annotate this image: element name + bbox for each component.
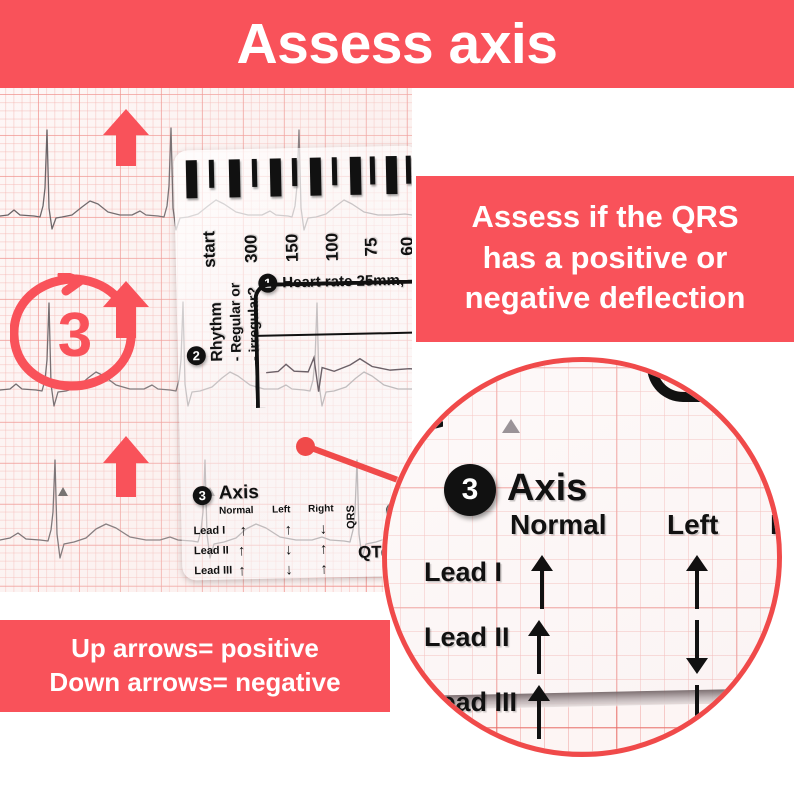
mini-cell-i-left: ↑ [284, 522, 292, 537]
mini-row-lead-ii: Lead II [194, 545, 229, 558]
magnified-col-header-right: Right [770, 509, 782, 541]
mini-cell-iii-right: ↑ [320, 561, 328, 576]
mini-cell-iii-left: ↓ [285, 562, 293, 577]
magnified-card-border-corner [647, 357, 782, 402]
red-up-arrow-icon [102, 280, 150, 338]
magnified-cell-lead-iii-normal [524, 683, 554, 741]
magnified-cell-lead-i-left [682, 553, 712, 611]
ecg-reference-ruler-card: start 300 150 100 75 60 1 Heart rate 25m… [174, 145, 412, 580]
mini-col-left: Left [272, 504, 291, 515]
callout-right-line-2: has a positive or [483, 238, 728, 279]
magnified-cell-lead-i-normal [527, 553, 557, 611]
header-banner: Assess axis [0, 0, 794, 88]
mini-qrs-label: QRS [345, 505, 357, 529]
magnified-row-header-lead-ii: Lead II [424, 622, 510, 653]
step-2-label: Rhythm [208, 302, 227, 362]
heart-rate-ruler-ticks [174, 155, 412, 206]
magnified-axis-title: Axis [507, 467, 587, 510]
magnified-cell-lead-iii-left [682, 683, 712, 741]
magnifier-connector-dot [296, 437, 315, 456]
red-up-arrow-icon [102, 435, 150, 497]
ecg-photo: start 300 150 100 75 60 1 Heart rate 25m… [0, 88, 412, 592]
callout-right-text-block: Assess if the QRS has a positive or nega… [416, 176, 794, 342]
ruler-label-60: 60 [397, 237, 412, 256]
magnified-row-header-lead-i: Lead I [424, 557, 502, 588]
ruler-label-150: 150 [282, 234, 303, 263]
magnified-cell-lead-ii-left [682, 618, 712, 676]
mini-cell-iii-normal: ↑ [238, 563, 246, 578]
mini-cell-ii-right: ↑ [320, 541, 328, 556]
ecg-calibration-marker [58, 487, 68, 496]
callout-bottom-line-1: Up arrows= positive [71, 632, 319, 666]
mini-row-lead-i: Lead I [193, 525, 225, 538]
mini-row-lead-iii: Lead III [194, 564, 232, 577]
mini-col-normal: Normal [219, 505, 254, 517]
callout-bottom-line-2: Down arrows= negative [49, 666, 340, 700]
magnified-triangle-marker [502, 419, 520, 433]
magnified-row-header-lead-iii: Lead III [424, 687, 517, 718]
step-2-sublabel-regular: - Regular or [226, 283, 244, 362]
ruler-label-100: 100 [322, 233, 343, 262]
mini-cell-ii-left: ↓ [285, 542, 293, 557]
mini-cell-ii-normal: ↑ [238, 543, 246, 558]
annotation-number-3: 3 [50, 306, 100, 366]
ruler-label-75: 75 [361, 237, 381, 256]
mini-cell-i-right: ↓ [319, 521, 327, 536]
mini-col-right: Right [308, 503, 334, 515]
ruler-label-300: 300 [241, 234, 262, 263]
callout-right-line-1: Assess if the QRS [471, 197, 738, 238]
ruler-label-start: start [199, 231, 220, 268]
magnified-col-header-left: Left [667, 509, 718, 541]
red-up-arrow-icon [102, 108, 150, 166]
magnified-step-badge-3: 3 [444, 464, 496, 516]
magnified-waveform-glyph: WW [417, 379, 451, 432]
step-2-sublabel-irregular: - irregular? [244, 287, 262, 361]
callout-bottom-text-block: Up arrows= positive Down arrows= negativ… [0, 620, 390, 712]
magnifier-zoom-circle: WW 3 Axis Normal Left Right Lead I Lead … [382, 357, 782, 757]
magnified-col-header-normal: Normal [510, 509, 606, 541]
mini-axis-table: Normal Left Right Lead I Lead II Lead II… [193, 487, 412, 580]
callout-right-line-3: negative deflection [465, 278, 746, 319]
magnified-cell-lead-ii-normal [524, 618, 554, 676]
mini-cell-i-normal: ↑ [239, 523, 247, 538]
page-title: Assess axis [237, 16, 558, 73]
